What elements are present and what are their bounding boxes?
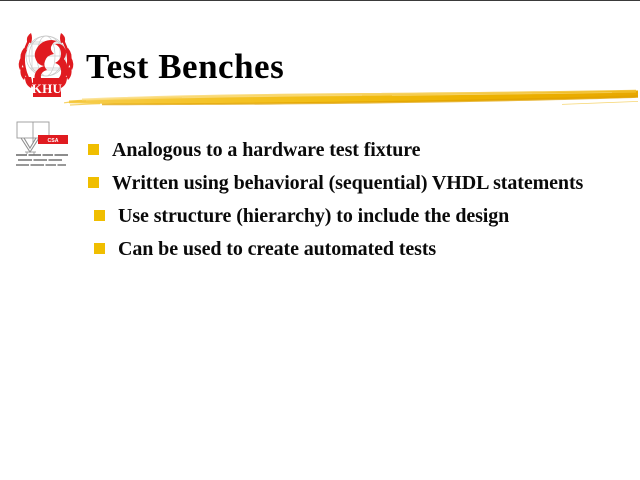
- list-item-label: Can be used to create automated tests: [118, 236, 588, 262]
- csa-badge-text: CSA: [48, 138, 59, 144]
- bullet-list: Analogous to a hardware test fixture Wri…: [88, 137, 588, 269]
- side-diagram-graphic: CSA: [14, 119, 76, 181]
- list-item-label: Analogous to a hardware test fixture: [112, 137, 588, 163]
- khu-banner-text: KHU: [32, 81, 63, 96]
- presentation-slide: KHU Test Benches: [0, 0, 640, 480]
- list-item-label: Written using behavioral (sequential) VH…: [112, 170, 588, 196]
- list-item: Can be used to create automated tests: [94, 236, 588, 262]
- bullet-square-icon: [88, 177, 99, 188]
- bullet-square-icon: [94, 243, 105, 254]
- list-item-label: Use structure (hierarchy) to include the…: [118, 203, 588, 229]
- list-item: Use structure (hierarchy) to include the…: [94, 203, 588, 229]
- list-item: Analogous to a hardware test fixture: [88, 137, 588, 163]
- page-title: Test Benches: [86, 46, 284, 88]
- bullet-square-icon: [88, 144, 99, 155]
- bullet-square-icon: [94, 210, 105, 221]
- gold-brush-underline: [62, 87, 640, 113]
- list-item: Written using behavioral (sequential) VH…: [88, 170, 588, 196]
